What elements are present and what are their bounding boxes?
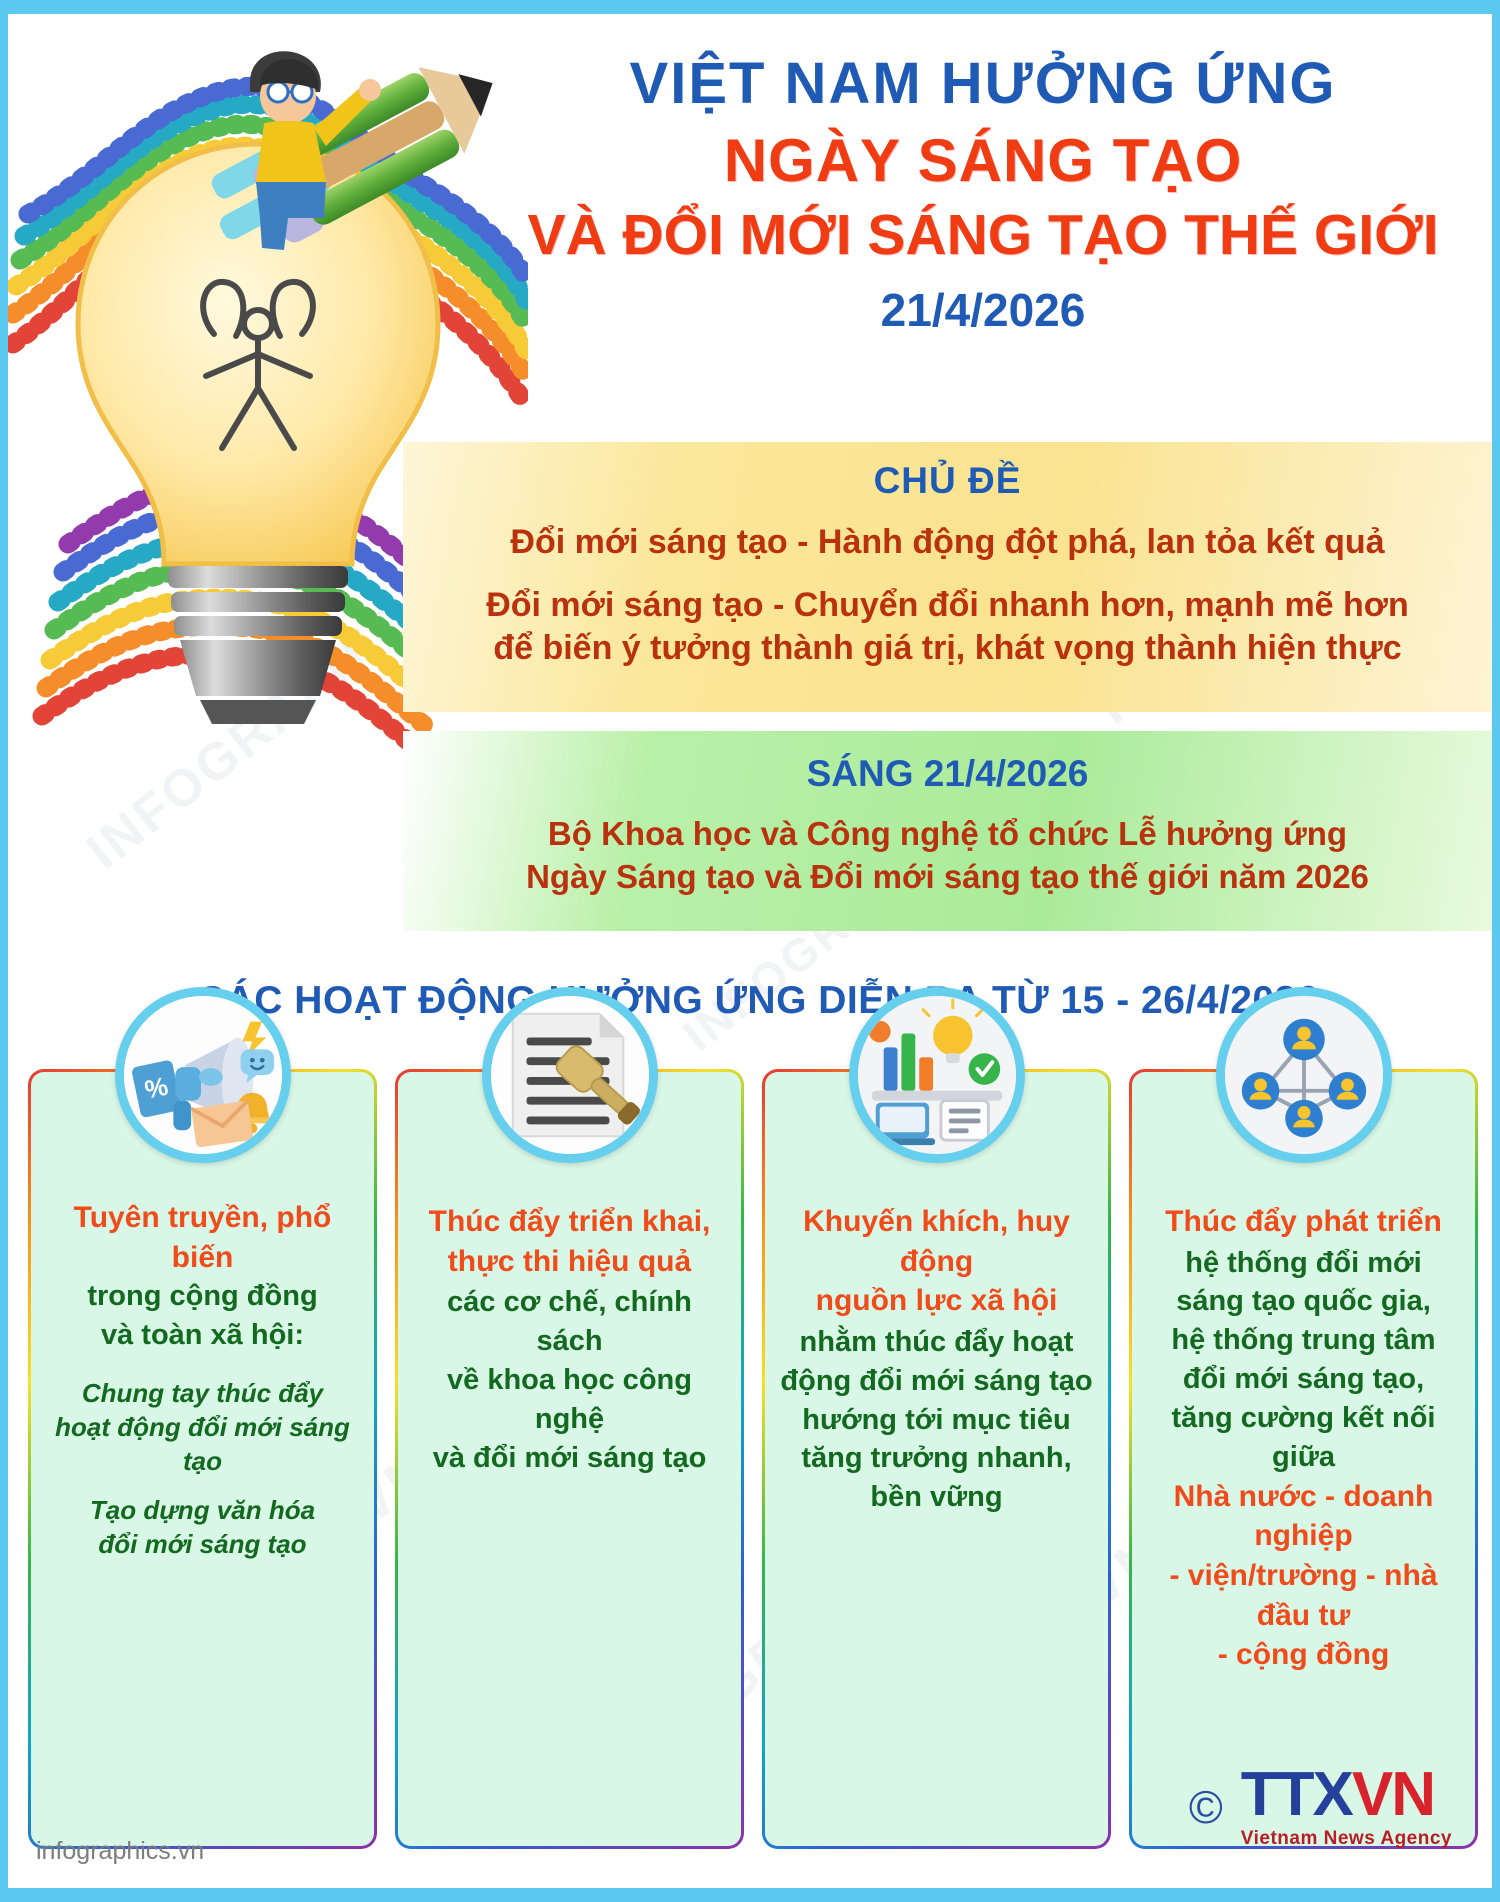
- card3-body-3: hướng tới mục tiêu: [779, 1401, 1094, 1440]
- card1-italic-2: hoạt động đổi mới sáng tạo: [45, 1411, 360, 1479]
- infographic-poster: INFOGRAPHICS TTXVN – VNA TTXVN – VNA INF…: [0, 0, 1500, 1902]
- card3-body-1: nhằm thúc đẩy hoạt: [779, 1323, 1094, 1362]
- card3-body-5: bền vững: [779, 1478, 1094, 1517]
- copyright-icon: ©: [1189, 1780, 1223, 1834]
- document-gavel-icon: [482, 987, 658, 1163]
- card2-body-3: và đổi mới sáng tạo: [412, 1439, 727, 1478]
- agency-name: Vietnam News Agency: [1241, 1828, 1452, 1850]
- network-people-icon: [1216, 987, 1392, 1163]
- card1-body-2: và toàn xã hội:: [45, 1316, 360, 1355]
- innovation-chart-icon: [849, 987, 1025, 1163]
- ttxvn-logo: © TTXVN Vietnam News Agency: [1189, 1764, 1452, 1850]
- event-band: SÁNG 21/4/2026 Bộ Khoa học và Công nghệ …: [403, 731, 1492, 931]
- title-line-1: VIỆT NAM HƯỞNG ỨNG: [478, 52, 1488, 117]
- card4-tail-3: - cộng đồng: [1146, 1635, 1461, 1675]
- card1-italic-4: đổi mới sáng tạo: [45, 1528, 360, 1562]
- event-heading: SÁNG 21/4/2026: [403, 753, 1492, 795]
- card4-highlight: Thúc đẩy phát triển: [1146, 1202, 1461, 1242]
- theme-heading: CHỦ ĐỀ: [403, 460, 1492, 502]
- card4-body-5: tăng cường kết nối giữa: [1146, 1399, 1461, 1477]
- logo-wordmark: TTXVN: [1241, 1764, 1452, 1826]
- activity-card-3: Khuyến khích, huy động nguồn lực xã hội …: [762, 1069, 1111, 1849]
- theme-band: CHỦ ĐỀ Đổi mới sáng tạo - Hành động đột …: [403, 442, 1492, 712]
- theme-line-1: Đổi mới sáng tạo - Hành động đột phá, la…: [403, 521, 1492, 565]
- card3-highlight-2: nguồn lực xã hội: [779, 1281, 1094, 1321]
- card1-italic-3: Tạo dựng văn hóa: [45, 1494, 360, 1528]
- card2-highlight-2: thực thi hiệu quả: [412, 1242, 727, 1282]
- logo-text-vn: VN: [1352, 1760, 1434, 1829]
- title-date: 21/4/2026: [478, 283, 1488, 337]
- card2-highlight: Thúc đẩy triển khai,: [412, 1202, 727, 1242]
- event-line-2: Ngày Sáng tạo và Đổi mới sáng tạo thế gi…: [403, 856, 1492, 899]
- card3-body-2: động đổi mới sáng tạo: [779, 1362, 1094, 1401]
- activity-card-4: Thúc đẩy phát triển hệ thống đổi mới sán…: [1129, 1069, 1478, 1849]
- card1-italic-1: Chung tay thúc đẩy: [45, 1377, 360, 1411]
- card1-body-1: trong cộng đồng: [45, 1277, 360, 1316]
- theme-line-2b: để biến ý tưởng thành giá trị, khát vọng…: [403, 627, 1492, 671]
- title-line-3: VÀ ĐỔI MỚI SÁNG TẠO THẾ GIỚI: [478, 203, 1488, 269]
- poster-title-block: VIỆT NAM HƯỞNG ỨNG NGÀY SÁNG TẠO VÀ ĐỔI …: [478, 52, 1488, 337]
- activity-cards-row: Tuyên truyền, phổ biến trong cộng đồng v…: [28, 1069, 1478, 1849]
- footer-site: infographics.vn: [36, 1837, 204, 1866]
- activity-card-1: Tuyên truyền, phổ biến trong cộng đồng v…: [28, 1069, 377, 1849]
- card4-body-1: hệ thống đổi mới: [1146, 1244, 1461, 1283]
- theme-line-2a: Đổi mới sáng tạo - Chuyển đổi nhanh hơn,…: [403, 584, 1492, 628]
- activity-card-2: Thúc đẩy triển khai, thực thi hiệu quả c…: [395, 1069, 744, 1849]
- megaphone-icon: %: [115, 987, 291, 1163]
- card4-body-4: đổi mới sáng tạo,: [1146, 1360, 1461, 1399]
- card2-body-1: các cơ chế, chính sách: [412, 1283, 727, 1361]
- card4-tail-1: Nhà nước - doanh nghiệp: [1146, 1477, 1461, 1556]
- logo-text-ttx: TTX: [1241, 1760, 1352, 1829]
- card3-highlight: Khuyến khích, huy động: [779, 1202, 1094, 1281]
- card2-body-2: về khoa học công nghệ: [412, 1361, 727, 1439]
- card3-body-4: tăng trưởng nhanh,: [779, 1439, 1094, 1478]
- card1-highlight: Tuyên truyền, phổ biến: [45, 1198, 360, 1277]
- card4-tail-2: - viện/trường - nhà đầu tư: [1146, 1556, 1461, 1635]
- card4-body-3: hệ thống trung tâm: [1146, 1321, 1461, 1360]
- event-line-1: Bộ Khoa học và Công nghệ tổ chức Lễ hưởn…: [403, 813, 1492, 856]
- title-line-2: NGÀY SÁNG TẠO: [478, 125, 1488, 197]
- card4-body-2: sáng tạo quốc gia,: [1146, 1282, 1461, 1321]
